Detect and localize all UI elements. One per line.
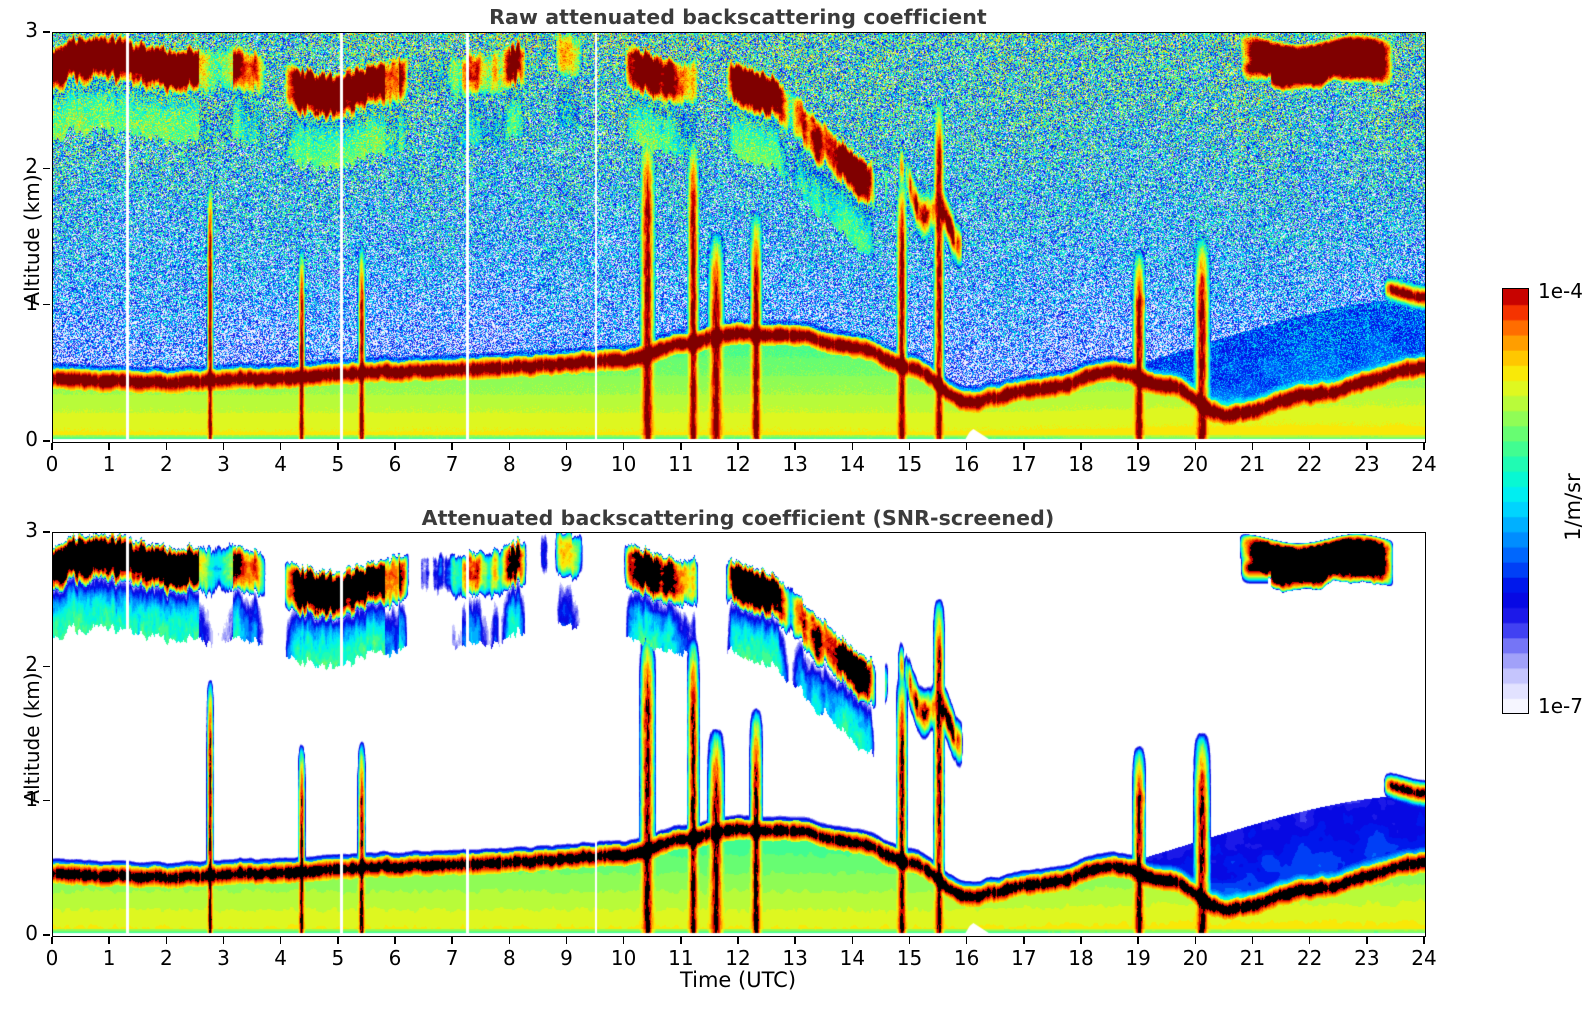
x-tick-1	[108, 937, 110, 944]
x-tick-label-11: 11	[651, 452, 711, 476]
x-tick-14	[852, 443, 854, 450]
y-tick-label-2: 2	[0, 154, 38, 178]
x-tick-label-9: 9	[537, 452, 597, 476]
x-tick-label-21: 21	[1223, 946, 1283, 970]
colorbar-max-label: 1e-4	[1538, 279, 1583, 303]
x-tick-label-20: 20	[1165, 452, 1225, 476]
x-tick-12	[737, 937, 739, 944]
y-tick-label-1: 1	[0, 291, 38, 315]
lidar-backscatter-figure: Raw attenuated backscattering coefficien…	[0, 0, 1595, 1020]
y-tick-3	[43, 31, 50, 33]
x-tick-4	[280, 937, 282, 944]
x-tick-label-0: 0	[22, 452, 82, 476]
heatmap-canvas-raw	[53, 33, 1425, 442]
x-tick-10	[623, 937, 625, 944]
x-tick-22	[1309, 937, 1311, 944]
x-tick-label-4: 4	[251, 452, 311, 476]
x-tick-label-7: 7	[422, 946, 482, 970]
x-tick-label-21: 21	[1223, 452, 1283, 476]
x-tick-24	[1423, 443, 1425, 450]
x-tick-15	[909, 443, 911, 450]
x-tick-label-23: 23	[1337, 946, 1397, 970]
y-tick-2	[43, 666, 50, 668]
y-tick-label-1: 1	[0, 787, 38, 811]
x-tick-label-13: 13	[765, 946, 825, 970]
y-tick-label-3: 3	[0, 18, 38, 42]
x-tick-label-17: 17	[994, 946, 1054, 970]
x-tick-label-10: 10	[594, 452, 654, 476]
x-tick-2	[166, 937, 168, 944]
x-tick-1	[108, 443, 110, 450]
y-tick-2	[43, 168, 50, 170]
y-tick-0	[43, 934, 50, 936]
x-tick-8	[509, 937, 511, 944]
x-tick-5	[337, 937, 339, 944]
x-tick-20	[1195, 443, 1197, 450]
x-tick-0	[51, 443, 53, 450]
x-tick-11	[680, 937, 682, 944]
y-tick-0	[43, 440, 50, 442]
x-tick-14	[852, 937, 854, 944]
x-tick-label-19: 19	[1108, 946, 1168, 970]
x-tick-15	[909, 937, 911, 944]
x-tick-12	[737, 443, 739, 450]
y-tick-3	[43, 531, 50, 533]
y-tick-1	[43, 304, 50, 306]
x-tick-label-24: 24	[1394, 452, 1454, 476]
x-tick-label-20: 20	[1165, 946, 1225, 970]
x-tick-label-1: 1	[79, 452, 139, 476]
x-tick-7	[451, 937, 453, 944]
x-tick-10	[623, 443, 625, 450]
x-tick-label-22: 22	[1280, 452, 1340, 476]
x-tick-7	[451, 443, 453, 450]
x-tick-11	[680, 443, 682, 450]
x-tick-3	[223, 443, 225, 450]
y-tick-1	[43, 800, 50, 802]
x-tick-label-22: 22	[1280, 946, 1340, 970]
colorbar-axis-label: 1/m/sr	[1561, 417, 1585, 597]
plot-area-screened[interactable]	[52, 532, 1426, 937]
y-tick-label-3: 3	[0, 518, 38, 542]
x-tick-label-9: 9	[537, 946, 597, 970]
x-tick-label-13: 13	[765, 452, 825, 476]
x-tick-label-8: 8	[479, 452, 539, 476]
panel-title-screened: Attenuated backscattering coefficient (S…	[52, 506, 1424, 530]
x-tick-label-14: 14	[822, 452, 882, 476]
x-tick-4	[280, 443, 282, 450]
x-tick-6	[394, 443, 396, 450]
x-tick-label-12: 12	[708, 946, 768, 970]
x-tick-label-19: 19	[1108, 452, 1168, 476]
x-tick-label-15: 15	[880, 452, 940, 476]
x-tick-0	[51, 937, 53, 944]
x-tick-label-6: 6	[365, 946, 425, 970]
plot-area-raw[interactable]	[52, 32, 1426, 443]
x-tick-24	[1423, 937, 1425, 944]
colorbar-gradient	[1503, 289, 1528, 713]
x-tick-label-0: 0	[22, 946, 82, 970]
x-tick-5	[337, 443, 339, 450]
x-tick-label-2: 2	[136, 946, 196, 970]
y-tick-label-2: 2	[0, 652, 38, 676]
x-tick-label-7: 7	[422, 452, 482, 476]
x-tick-label-3: 3	[194, 946, 254, 970]
panel-title-raw: Raw attenuated backscattering coefficien…	[52, 5, 1424, 29]
x-tick-9	[566, 443, 568, 450]
x-tick-16	[966, 937, 968, 944]
x-tick-19	[1137, 443, 1139, 450]
x-tick-21	[1252, 443, 1254, 450]
x-tick-label-23: 23	[1337, 452, 1397, 476]
x-tick-label-11: 11	[651, 946, 711, 970]
x-tick-9	[566, 937, 568, 944]
x-tick-label-1: 1	[79, 946, 139, 970]
x-tick-18	[1080, 443, 1082, 450]
x-tick-label-6: 6	[365, 452, 425, 476]
x-tick-label-24: 24	[1394, 946, 1454, 970]
colorbar[interactable]	[1502, 288, 1529, 714]
x-tick-label-17: 17	[994, 452, 1054, 476]
heatmap-canvas-screened	[53, 533, 1425, 936]
x-tick-20	[1195, 937, 1197, 944]
x-tick-23	[1366, 443, 1368, 450]
x-tick-6	[394, 937, 396, 944]
colorbar-min-label: 1e-7	[1538, 694, 1583, 718]
x-tick-label-16: 16	[937, 946, 997, 970]
x-tick-label-5: 5	[308, 452, 368, 476]
x-tick-22	[1309, 443, 1311, 450]
x-tick-label-2: 2	[136, 452, 196, 476]
x-tick-19	[1137, 937, 1139, 944]
x-tick-label-10: 10	[594, 946, 654, 970]
x-tick-label-5: 5	[308, 946, 368, 970]
x-tick-16	[966, 443, 968, 450]
x-tick-23	[1366, 937, 1368, 944]
x-tick-17	[1023, 937, 1025, 944]
x-tick-13	[794, 937, 796, 944]
x-tick-label-8: 8	[479, 946, 539, 970]
x-tick-label-4: 4	[251, 946, 311, 970]
x-tick-label-16: 16	[937, 452, 997, 476]
x-tick-label-18: 18	[1051, 946, 1111, 970]
x-tick-label-18: 18	[1051, 452, 1111, 476]
x-tick-label-3: 3	[194, 452, 254, 476]
y-tick-label-0: 0	[0, 427, 38, 451]
x-tick-3	[223, 937, 225, 944]
x-tick-17	[1023, 443, 1025, 450]
x-tick-label-14: 14	[822, 946, 882, 970]
x-tick-21	[1252, 937, 1254, 944]
x-tick-13	[794, 443, 796, 450]
x-tick-8	[509, 443, 511, 450]
x-tick-2	[166, 443, 168, 450]
x-tick-label-15: 15	[880, 946, 940, 970]
x-tick-label-12: 12	[708, 452, 768, 476]
x-tick-18	[1080, 937, 1082, 944]
y-tick-label-0: 0	[0, 921, 38, 945]
x-axis-label: Time (UTC)	[52, 968, 1424, 992]
